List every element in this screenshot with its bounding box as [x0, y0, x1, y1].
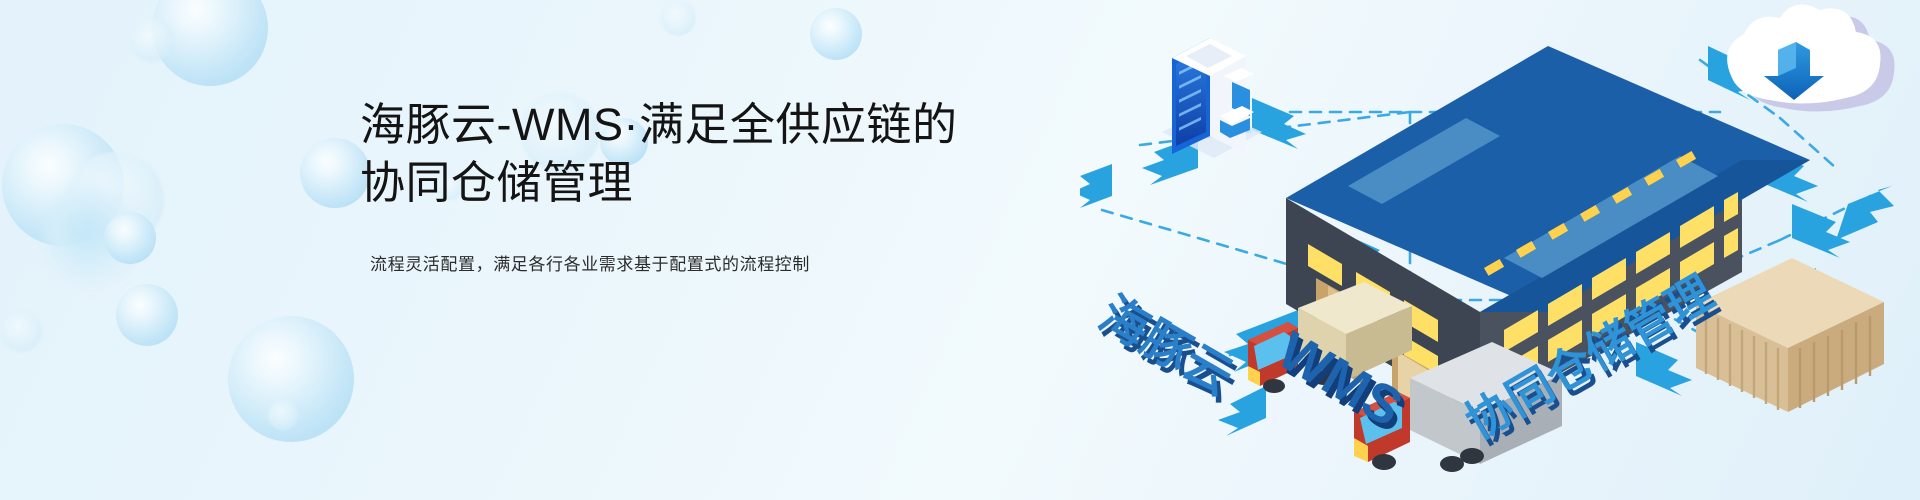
- bubble-8: [0, 310, 42, 352]
- bubble-12: [810, 8, 862, 60]
- label-haitunyun-text: 海豚云: [1091, 288, 1242, 406]
- bubble-2: [68, 152, 164, 248]
- cloud-download-icon: [1727, 5, 1894, 112]
- banner-copy: 海豚云-WMS·满足全供应链的 协同仓储管理 流程灵活配置，满足各行各业需求基于…: [360, 96, 1080, 278]
- label-haitunyun: 海豚云 海豚云: [1091, 288, 1246, 412]
- bubble-13: [268, 400, 298, 430]
- hero-banner: 海豚云-WMS·满足全供应链的 协同仓储管理 流程灵活配置，满足各行各业需求基于…: [0, 0, 1920, 500]
- bubble-4: [104, 212, 156, 264]
- page-title: 海豚云-WMS·满足全供应链的 协同仓储管理: [360, 96, 1080, 212]
- server-kiosk: [1162, 38, 1262, 158]
- bubble-5: [116, 284, 178, 346]
- page-subtitle: 流程灵活配置，满足各行各业需求基于配置式的流程控制: [370, 252, 1080, 278]
- bubble-6: [228, 316, 354, 442]
- bubble-3: [44, 188, 142, 286]
- warehouse-illustration: 海豚云 海豚云 WMS WMS 协同仓储管理 协同仓储管理: [1080, 0, 1920, 500]
- bubble-14: [660, 0, 696, 36]
- bubble-9: [130, 18, 174, 62]
- bubble-1: [2, 124, 124, 246]
- bubble-0: [152, 0, 268, 86]
